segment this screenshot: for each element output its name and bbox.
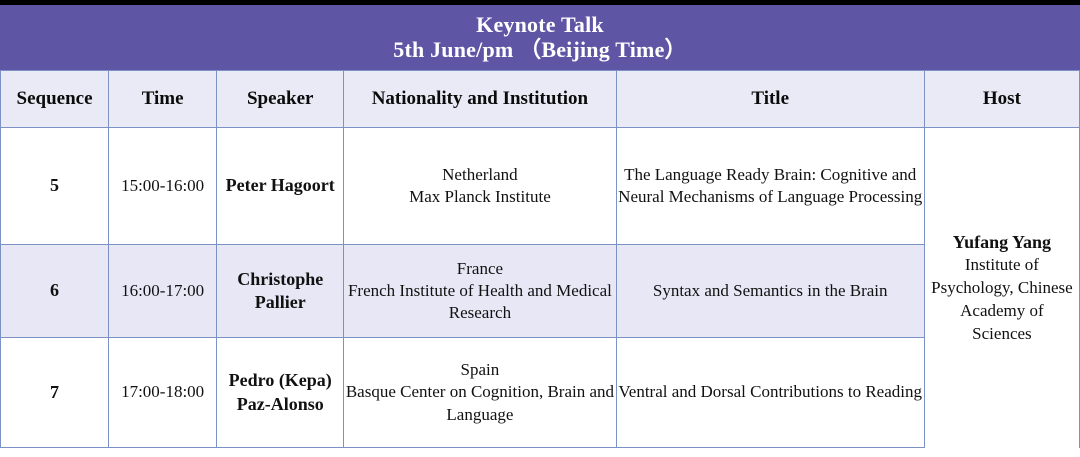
cell-nationality-institution: Spain Basque Center on Cognition, Brain … — [344, 338, 616, 448]
cell-nationality-institution: Netherland Max Planck Institute — [344, 128, 616, 245]
banner-title: Keynote Talk — [476, 13, 604, 38]
cell-sequence: 7 — [1, 338, 109, 448]
institution-text: Max Planck Institute — [344, 186, 615, 208]
cell-talk-title: Syntax and Semantics in the Brain — [616, 245, 924, 338]
column-header-speaker: Speaker — [217, 71, 344, 128]
banner-subtitle: 5th June/pm （Beijing Time） — [393, 38, 686, 63]
host-name: Yufang Yang — [931, 230, 1073, 254]
table-row: 5 15:00-16:00 Peter Hagoort Netherland M… — [1, 128, 1080, 245]
column-header-time: Time — [109, 71, 217, 128]
cell-talk-title: The Language Ready Brain: Cognitive and … — [616, 128, 924, 245]
column-header-sequence: Sequence — [1, 71, 109, 128]
cell-host: Yufang Yang Institute of Psychology, Chi… — [924, 128, 1079, 448]
host-affiliation: Institute of Psychology, Chinese Academy… — [931, 254, 1073, 345]
cell-nationality-institution: France French Institute of Health and Me… — [344, 245, 616, 338]
column-header-title: Title — [616, 71, 924, 128]
column-header-host: Host — [924, 71, 1079, 128]
cell-time: 17:00-18:00 — [109, 338, 217, 448]
cell-time: 15:00-16:00 — [109, 128, 217, 245]
schedule-table: Sequence Time Speaker Nationality and In… — [0, 70, 1080, 448]
table-row: 6 16:00-17:00 Christophe Pallier France … — [1, 245, 1080, 338]
cell-time: 16:00-17:00 — [109, 245, 217, 338]
cell-speaker: Christophe Pallier — [217, 245, 344, 338]
cell-speaker: Pedro (Kepa) Paz-Alonso — [217, 338, 344, 448]
cell-sequence: 6 — [1, 245, 109, 338]
institution-text: Basque Center on Cognition, Brain and La… — [344, 381, 615, 425]
table-row: 7 17:00-18:00 Pedro (Kepa) Paz-Alonso Sp… — [1, 338, 1080, 448]
table-header-row: Sequence Time Speaker Nationality and In… — [1, 71, 1080, 128]
institution-text: French Institute of Health and Medical R… — [344, 280, 615, 324]
nationality-text: Netherland — [344, 164, 615, 186]
nationality-text: Spain — [344, 359, 615, 381]
column-header-nationality-institution: Nationality and Institution — [344, 71, 616, 128]
cell-speaker: Peter Hagoort — [217, 128, 344, 245]
nationality-text: France — [344, 258, 615, 280]
cell-sequence: 5 — [1, 128, 109, 245]
banner: Keynote Talk 5th June/pm （Beijing Time） — [0, 5, 1080, 70]
cell-talk-title: Ventral and Dorsal Contributions to Read… — [616, 338, 924, 448]
keynote-schedule-slide: Keynote Talk 5th June/pm （Beijing Time） … — [0, 0, 1080, 457]
